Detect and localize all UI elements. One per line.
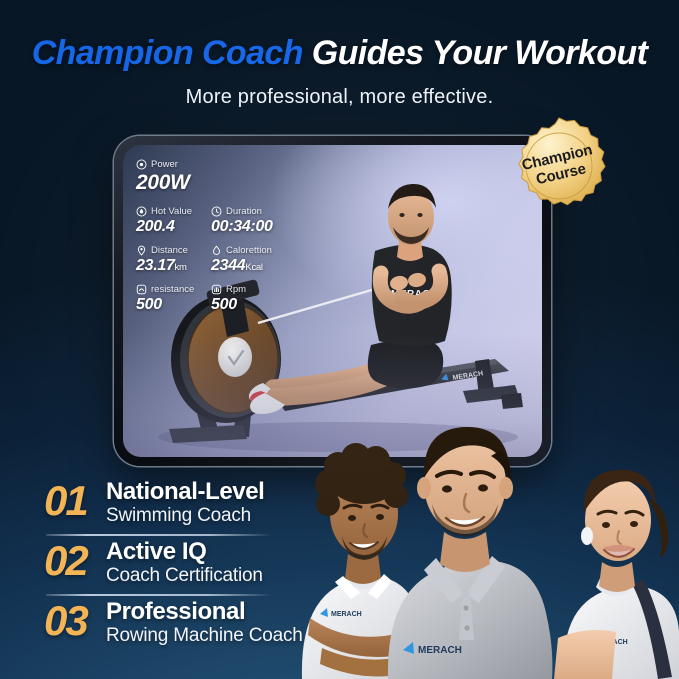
metric-distance-label: Distance — [136, 245, 211, 256]
metric-power-label: Power — [136, 159, 286, 170]
promo-poster: Champion Coach Guides Your Workout More … — [0, 0, 679, 679]
metric-hot-value-value: 200.4 — [136, 218, 211, 236]
clock-icon — [211, 206, 222, 217]
metric-rpm-label: Rpm — [211, 284, 286, 295]
metric-rpm: Rpm 500 — [211, 284, 286, 323]
credential-number: 02 — [44, 540, 104, 582]
page-subtitle: More professional, more effective. — [0, 86, 679, 109]
credential-item: 01 National-Level Swimming Coach — [44, 478, 344, 538]
metric-rpm-value: 500 — [211, 296, 286, 314]
metric-power: Power 200W — [136, 159, 286, 206]
headline-highlight: Champion Coach — [32, 34, 303, 72]
credential-title: National-Level — [106, 478, 264, 506]
metric-hot-value: Hot Value 200.4 — [136, 206, 211, 245]
headline-rest: Guides Your Workout — [312, 34, 648, 72]
metric-calories: Calorettion 2344Kcal — [211, 245, 286, 284]
metric-calories-label: Calorettion — [211, 245, 286, 256]
resistance-icon — [136, 284, 147, 295]
metric-distance-value: 23.17km — [136, 257, 211, 275]
metric-duration-label: Duration — [211, 206, 286, 217]
champion-course-badge: Champion Course — [506, 116, 612, 216]
credential-divider — [46, 534, 272, 536]
metric-duration: Duration 00:34:00 — [211, 206, 286, 245]
credential-subtitle: Coach Certification — [106, 565, 263, 587]
credential-subtitle: Swimming Coach — [106, 505, 251, 527]
power-icon — [136, 159, 147, 170]
coach-right: MERACH — [554, 470, 679, 679]
credential-number: 03 — [44, 600, 104, 642]
workout-metrics-panel: Power 200W Hot Value — [136, 159, 286, 323]
metric-distance: Distance 23.17km — [136, 245, 211, 284]
coach-center: MERACH — [388, 427, 552, 679]
credential-number: 01 — [44, 480, 104, 522]
credential-subtitle: Rowing Machine Coach — [106, 625, 303, 647]
credential-title: Professional — [106, 598, 245, 626]
coaches-group-photo: MERACH — [296, 386, 679, 679]
metric-power-value: 200W — [136, 171, 286, 195]
page-title: Champion Coach Guides Your Workout — [0, 34, 679, 73]
metric-duration-value: 00:34:00 — [211, 218, 286, 236]
flame-target-icon — [136, 206, 147, 217]
credential-item: 03 Professional Rowing Machine Coach — [44, 598, 344, 658]
flame-icon — [211, 245, 222, 256]
metric-resistance-value: 500 — [136, 296, 211, 314]
metric-resistance-label: resistance — [136, 284, 211, 295]
metric-hot-value-label: Hot Value — [136, 206, 211, 217]
metric-resistance: resistance 500 — [136, 284, 211, 323]
svg-text:MERACH: MERACH — [418, 645, 462, 656]
credential-item: 02 Active IQ Coach Certification — [44, 538, 344, 598]
location-pin-icon — [136, 245, 147, 256]
credential-divider — [46, 594, 272, 596]
credential-title: Active IQ — [106, 538, 206, 566]
rpm-icon — [211, 284, 222, 295]
credentials-list: 01 National-Level Swimming Coach 02 Acti… — [44, 478, 344, 658]
metric-calories-value: 2344Kcal — [211, 257, 286, 275]
